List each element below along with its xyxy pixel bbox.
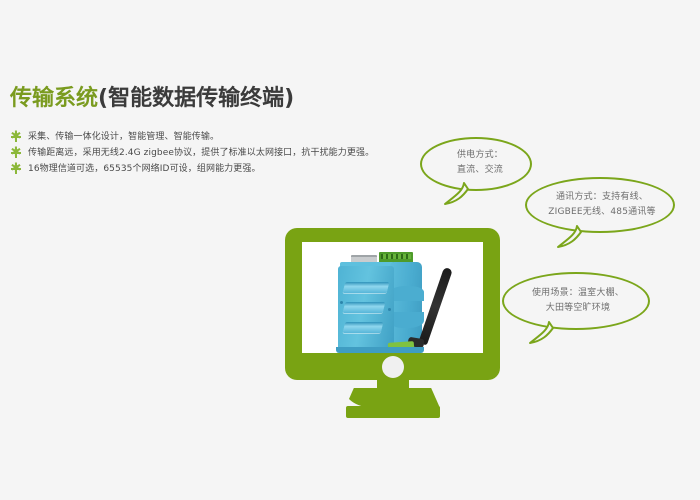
- star-asterisk-glyph: ✱: [10, 131, 22, 143]
- blue-data-transmission-terminal: [332, 250, 482, 353]
- ventilation-slot: [343, 282, 390, 293]
- device-screw: [340, 301, 343, 304]
- antenna-icon: [418, 267, 453, 346]
- list-item: ✱ 采集、传输一体化设计，智能管理、智能传输。: [9, 130, 429, 146]
- bubble-usage-scene-tail: [528, 321, 554, 345]
- feature-text: 传输距离远，采用无线2.4G zigbee协议，提供了标准以太网接口，抗干扰能力…: [28, 146, 374, 160]
- ventilation-slot: [343, 322, 384, 333]
- monitor-stand-flare-right: [406, 388, 440, 408]
- bubble-power-supply: 供电方式： 直流、交流: [420, 137, 532, 191]
- device-screw: [388, 308, 391, 311]
- bubble-usage-scene: 使用场景：温室大棚、 大田等空旷环境: [502, 272, 650, 330]
- star-asterisk-icon: ✱: [9, 146, 23, 160]
- feature-text: 16物理信道可选，65535个网络ID可设，组网能力更强。: [28, 162, 261, 176]
- monitor-stand-flare-left: [345, 388, 379, 408]
- bubble-communication-text: 通讯方式：支持有线、 ZIGBEE无线、485通讯等: [548, 190, 656, 220]
- device-foot: [336, 347, 424, 353]
- feature-list: ✱ 采集、传输一体化设计，智能管理、智能传输。 ✱ 传输距离远，采用无线2.4G…: [9, 130, 429, 178]
- page-title-main: 传输系统: [10, 86, 98, 111]
- feature-text: 采集、传输一体化设计，智能管理、智能传输。: [28, 130, 219, 144]
- monitor-stand-base: [346, 406, 440, 418]
- monitor-screen: [302, 242, 483, 353]
- page-title: 传输系统(智能数据传输终端): [10, 80, 294, 112]
- star-asterisk-icon: ✱: [9, 162, 23, 176]
- bubble-power-supply-text: 供电方式： 直流、交流: [457, 148, 503, 178]
- star-asterisk-glyph: ✱: [10, 147, 22, 159]
- star-asterisk-icon: ✱: [9, 130, 23, 144]
- bubble-communication: 通讯方式：支持有线、 ZIGBEE无线、485通讯等: [525, 177, 675, 233]
- green-computer-monitor: [285, 228, 500, 418]
- bubble-communication-tail: [556, 225, 582, 249]
- list-item: ✱ 传输距离远，采用无线2.4G zigbee协议，提供了标准以太网接口，抗干扰…: [9, 146, 429, 162]
- bubble-usage-scene-text: 使用场景：温室大棚、 大田等空旷环境: [532, 286, 624, 316]
- slide-page: 传输系统(智能数据传输终端) ✱ 采集、传输一体化设计，智能管理、智能传输。 ✱…: [0, 0, 700, 500]
- monitor-bezel: [285, 228, 500, 380]
- ventilation-slot: [343, 302, 386, 313]
- monitor-power-dot: [382, 356, 404, 378]
- star-asterisk-glyph: ✱: [10, 163, 22, 175]
- page-title-sub: (智能数据传输终端): [98, 86, 294, 111]
- list-item: ✱ 16物理信道可选，65535个网络ID可设，组网能力更强。: [9, 162, 429, 178]
- bubble-power-supply-tail: [443, 182, 469, 206]
